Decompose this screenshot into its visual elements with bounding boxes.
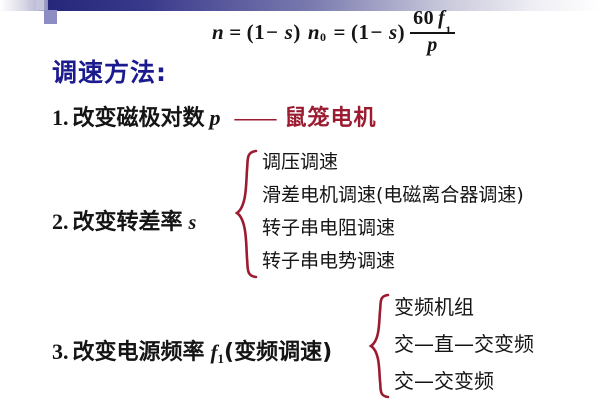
list-item-2-label: 改变转差率: [73, 204, 183, 236]
slide-canvas: n = (1 − s ) n0 = (1 − s ) 60f1 p 调速方法: …: [0, 0, 600, 412]
list-item: 变频机组: [394, 291, 534, 328]
list-item-1-dash: ——: [235, 105, 275, 131]
list-item-3: 3. 改变电源频率 f1 (变频调速): [52, 334, 332, 366]
formula-lhs-variable: n: [212, 20, 224, 45]
list-item-2-variable: s: [189, 212, 197, 235]
list-item-3-variable: f: [211, 340, 218, 365]
formula-speed-equation: n = (1 − s ) n0 = (1 − s ) 60f1 p: [212, 9, 455, 57]
formula-n0-base: n: [308, 20, 320, 45]
sublist-item-3: 变频机组 交—直—交变频 交—交变频: [394, 291, 534, 402]
formula-fraction-numerator: 60f1: [410, 8, 455, 32]
curly-brace-icon-item-2: [232, 148, 260, 280]
formula-group1-open: (1: [247, 20, 266, 45]
formula-fraction: 60f1 p: [410, 8, 455, 56]
formula-group2-close: ): [398, 20, 406, 45]
list-item-1-number: 1.: [52, 105, 69, 131]
topbar-square-decoration: [44, 10, 57, 24]
list-item: 转子串电阻调速: [262, 213, 524, 246]
formula-frequency-coefficient: 60: [413, 7, 434, 29]
formula-group1-close: ): [293, 20, 301, 45]
formula-equals-2: =: [334, 20, 346, 45]
list-item: 交—交变频: [394, 365, 534, 402]
list-item-3-variable-subscript: 1: [218, 351, 225, 367]
list-item-3-label: 改变电源频率: [73, 334, 205, 366]
list-item-3-number: 3.: [52, 339, 69, 365]
formula-frequency-subscript: 1: [445, 23, 452, 37]
list-item-1: 1. 改变磁极对数 p —— 鼠笼电机: [52, 100, 377, 132]
topbar-small-square-decoration: [36, 0, 44, 10]
list-item-2: 2. 改变转差率 s: [52, 204, 196, 236]
list-item-2-number: 2.: [52, 209, 69, 235]
list-item: 交—直—交变频: [394, 328, 534, 365]
curly-brace-icon-item-3: [366, 292, 392, 400]
sublist-item-2: 调压调速 滑差电机调速(电磁离合器调速) 转子串电阻调速 转子串电势调速: [262, 147, 524, 279]
list-item-3-suffix: (变频调速): [224, 334, 332, 366]
formula-slip-1: s: [285, 20, 294, 45]
formula-equals-1: =: [229, 20, 241, 45]
formula-fraction-denominator: p: [424, 34, 441, 56]
formula-slip-2: s: [389, 20, 398, 45]
formula-n0-subscript: 0: [320, 30, 327, 45]
list-item-1-label: 改变磁极对数: [73, 100, 205, 132]
formula-minus-1: −: [266, 20, 278, 45]
list-item-1-annotation: 鼠笼电机: [285, 100, 377, 132]
list-item: 滑差电机调速(电磁离合器调速): [262, 180, 524, 213]
list-item-1-variable: p: [210, 105, 221, 131]
page-title: 调速方法:: [52, 53, 167, 89]
formula-group2-open: (1: [351, 20, 370, 45]
formula-minus-2: −: [370, 20, 382, 45]
list-item: 调压调速: [262, 147, 524, 180]
list-item: 转子串电势调速: [262, 246, 524, 279]
